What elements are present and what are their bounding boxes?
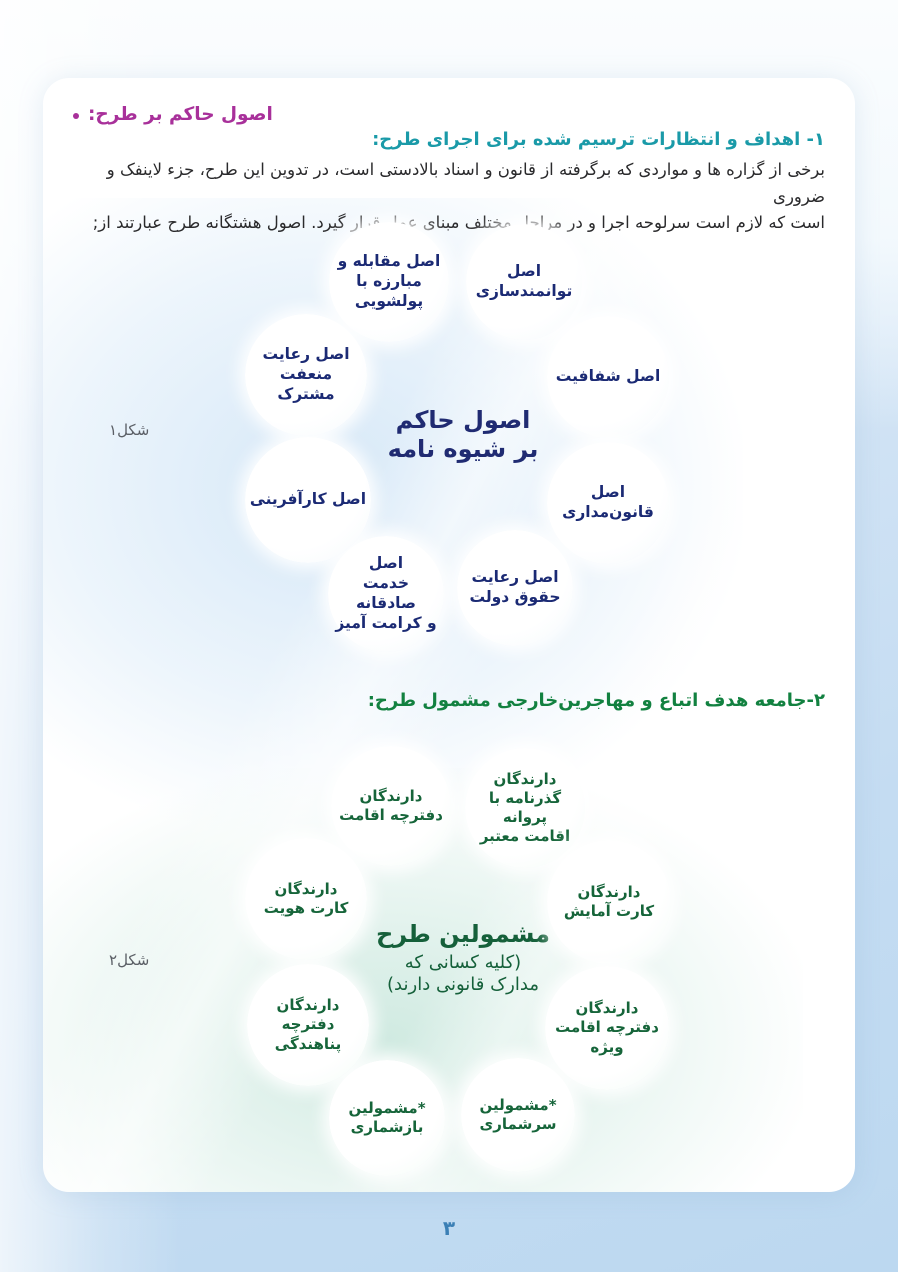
content-card: اصول حاکم بر طرح: ۱- اهداف و انتظارات تر… (43, 78, 855, 1192)
diagram-2-node-karte-amayesh[interactable]: دارندگان کارت آمایش (547, 840, 671, 964)
diagram-plan-beneficiaries: مشمولین طرح (کلیه کسانی که مدارک قانونی … (233, 750, 693, 1170)
diagram-2-node-label: دارندگان دفترچه اقامت ویژه (555, 999, 659, 1057)
section-1-heading-row: اصول حاکم بر طرح: (73, 104, 825, 125)
diagram-2-center-title: مشمولین طرح (347, 920, 579, 949)
diagram-1-node-tavanmandsazi[interactable]: اصل توانمندسازی (466, 224, 582, 340)
diagram-1-node-manfaat-moshtarak[interactable]: اصل رعایت منعفت مشترک (245, 314, 367, 436)
diagram-2-node-label: *مشمولین بازشماری (348, 1099, 425, 1137)
diagram-1-node-label: اصل رعایت منعفت مشترک (249, 345, 363, 404)
diagram-2-node-gozarname-parvane[interactable]: دارندگان گذرنامه با پروانه اقامت معتبر (465, 748, 585, 868)
section-1-sub-heading: ۱- اهداف و انتظارات ترسیم شده برای اجرای… (73, 129, 825, 150)
diagram-2-node-daftarche-panahandegi[interactable]: دارندگان دفترچه پناهندگی (247, 964, 369, 1086)
diagram-1-center-title-line-1: اصول حاکم (355, 406, 571, 435)
diagram-1-node-ghanoonmadari[interactable]: اصل قانون‌مداری (547, 442, 669, 564)
diagram-governing-principles: اصول حاکم بر شیوه نامه اصل توانمندسازی ا… (233, 230, 693, 650)
diagram-2-node-mashmoolin-sarshomari[interactable]: *مشمولین سرشماری (461, 1058, 575, 1172)
section-2-heading: ۲-جامعه هدف اتباع و مهاجرین‌خارجی مشمول … (368, 690, 825, 711)
diagram-2-node-label: دارندگان کارت آمایش (564, 883, 654, 921)
document-page: اصول حاکم بر طرح: ۱- اهداف و انتظارات تر… (0, 0, 898, 1272)
diagram-1-center-label: اصول حاکم بر شیوه نامه (355, 406, 571, 464)
section-1-paragraph-line-1: برخی از گزاره ها و مواردی که برگرفته از … (73, 157, 825, 210)
diagram-1-node-label: اصل قانون‌مداری (551, 483, 665, 523)
diagram-2-node-label: دارندگان دفترچه اقامت (339, 787, 443, 825)
diagram-1-node-karafarini[interactable]: اصل کارآفرینی (245, 437, 371, 563)
diagram-2-node-mashmoolin-bazshomari[interactable]: *مشمولین بازشماری (329, 1060, 445, 1176)
diagram-2-center-subtitle-line-2: مدارک قانونی دارند) (347, 974, 579, 997)
diagram-1-node-label: اصل رعایت حقوق دولت (469, 568, 560, 608)
figure-2-caption: شکل۲ (109, 951, 149, 969)
diagram-2-node-daftarche-eghamat[interactable]: دارندگان دفترچه اقامت (331, 746, 451, 866)
page-number: ۳ (0, 1216, 898, 1240)
section-1-bullet-heading: اصول حاکم بر طرح: (88, 104, 273, 125)
diagram-1-node-label: اصل کارآفرینی (250, 490, 366, 510)
diagram-2-center-subtitle-line-1: (کلیه کسانی که (347, 952, 579, 975)
figure-1-caption: شکل۱ (109, 421, 149, 439)
diagram-1-center-title-line-2: بر شیوه نامه (355, 435, 571, 464)
section-1-paragraph: برخی از گزاره ها و مواردی که برگرفته از … (73, 157, 825, 237)
diagram-1-node-label: اصل مقابله و مبارزه با پولشویی (338, 252, 441, 311)
card-content: اصول حاکم بر طرح: ۱- اهداف و انتظارات تر… (43, 78, 855, 1192)
diagram-1-node-poolshooyi[interactable]: اصل مقابله و مبارزه با پولشویی (329, 222, 449, 342)
bullet-dot-icon (73, 113, 79, 119)
diagram-1-node-hoghooghe-dolat[interactable]: اصل رعایت حقوق دولت (457, 530, 573, 646)
diagram-2-node-karte-hoviyat[interactable]: دارندگان کارت هویت (245, 838, 367, 960)
diagram-1-node-label: اصل خدمت صادقانه و کرامت آمیز (332, 554, 440, 633)
diagram-2-node-daftarche-eghamat-vizhe[interactable]: دارندگان دفترچه اقامت ویژه (545, 966, 669, 1090)
diagram-1-node-shafafiyat[interactable]: اصل شفافیت (547, 316, 669, 438)
section-1-text-block: اصول حاکم بر طرح: ۱- اهداف و انتظارات تر… (73, 104, 825, 237)
diagram-1-node-label: اصل شفافیت (556, 367, 661, 387)
diagram-2-center-label: مشمولین طرح (کلیه کسانی که مدارک قانونی … (347, 920, 579, 997)
diagram-2-node-label: دارندگان دفترچه پناهندگی (275, 996, 341, 1054)
diagram-1-node-khedmat-sadeghane[interactable]: اصل خدمت صادقانه و کرامت آمیز (328, 536, 444, 652)
diagram-2-node-label: دارندگان کارت هویت (264, 880, 349, 918)
diagram-1-node-label: اصل توانمندسازی (476, 262, 573, 302)
diagram-2-node-label: دارندگان گذرنامه با پروانه اقامت معتبر (469, 770, 581, 847)
diagram-2-node-label: *مشمولین سرشماری (479, 1096, 556, 1134)
